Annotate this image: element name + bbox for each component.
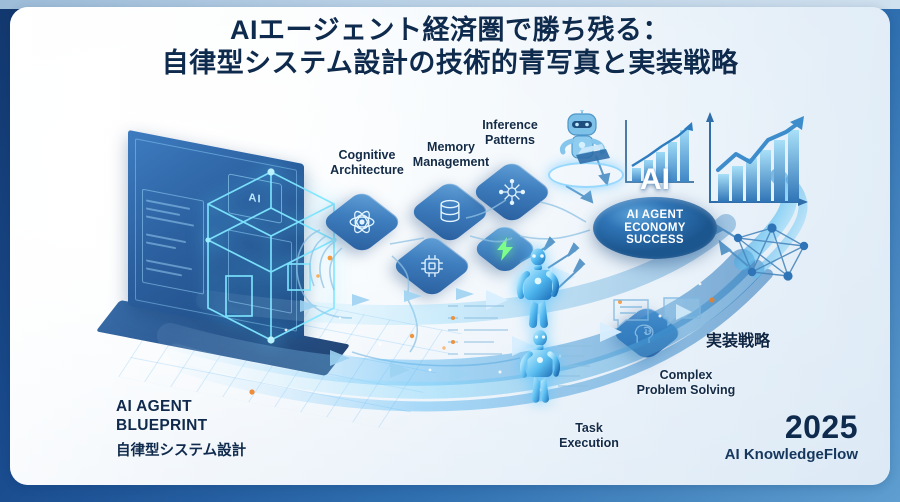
database-icon bbox=[424, 186, 475, 237]
blueprint-en-line2: BLUEPRINT bbox=[116, 417, 246, 436]
title-line-1: AIエージェント経済圏で勝ち残る： bbox=[0, 14, 900, 47]
ui-panel-fragments bbox=[556, 340, 634, 396]
label-line-1: Inference bbox=[474, 118, 546, 133]
chat-bubble-icons bbox=[610, 296, 710, 338]
node-processor-chip[interactable] bbox=[391, 234, 474, 299]
brain-network-icon bbox=[336, 196, 387, 247]
label-line-2: Patterns bbox=[474, 133, 546, 148]
humanoid-agent-lower bbox=[520, 330, 560, 414]
label-cognitive-architecture: Cognitive Architecture bbox=[328, 148, 406, 178]
slide-title: AIエージェント経済圏で勝ち残る： 自律型システム設計の技術的青写真と実装戦略 bbox=[0, 14, 900, 80]
label-inference-patterns: Inference Patterns bbox=[474, 118, 546, 148]
title-line-2: 自律型システム設計の技術的青写真と実装戦略 bbox=[0, 47, 900, 80]
network-graph-icon bbox=[726, 218, 822, 290]
network-hub-icon bbox=[486, 166, 537, 217]
label-line-2: Management bbox=[404, 155, 498, 170]
label-line-1: Cognitive bbox=[328, 148, 406, 163]
footer-year: 2025 bbox=[725, 411, 858, 443]
footer-brand: AI KnowledgeFlow bbox=[725, 446, 858, 463]
task-execution-line-2: Execution bbox=[546, 436, 632, 451]
hub-label-group: AI AGENT ECONOMY SUCCESS bbox=[593, 197, 717, 259]
central-hub-ellipse[interactable]: AI AGENT ECONOMY SUCCESS bbox=[593, 197, 717, 259]
hologram-house-wireframe bbox=[196, 168, 346, 353]
task-execution-line-1: Task bbox=[546, 421, 632, 436]
hub-line-1: AI AGENT bbox=[627, 209, 684, 222]
slide-canvas: AI bbox=[0, 0, 900, 502]
label-implementation-strategy: 実装戦略 bbox=[706, 327, 770, 351]
blueprint-en-line1: AI AGENT bbox=[116, 398, 246, 417]
blueprint-caption: AI AGENT BLUEPRINT 自律型システム設計 bbox=[116, 398, 246, 460]
label-task-execution: Task Execution bbox=[546, 421, 632, 451]
humanoid-agent-upper bbox=[516, 248, 560, 340]
footer-block: 2025 AI KnowledgeFlow bbox=[725, 411, 858, 463]
hub-line-2: ECONOMY bbox=[624, 222, 686, 235]
label-line-1: Complex bbox=[628, 368, 744, 383]
label-complex-problem-solving: Complex Problem Solving bbox=[628, 368, 744, 398]
hub-headline: AI bbox=[593, 163, 717, 197]
cpu-chip-icon bbox=[406, 240, 457, 291]
blueprint-ja: 自律型システム設計 bbox=[116, 439, 246, 460]
label-line-2: Problem Solving bbox=[628, 383, 744, 398]
label-line-2: Architecture bbox=[328, 163, 406, 178]
hub-line-3: SUCCESS bbox=[626, 234, 684, 247]
